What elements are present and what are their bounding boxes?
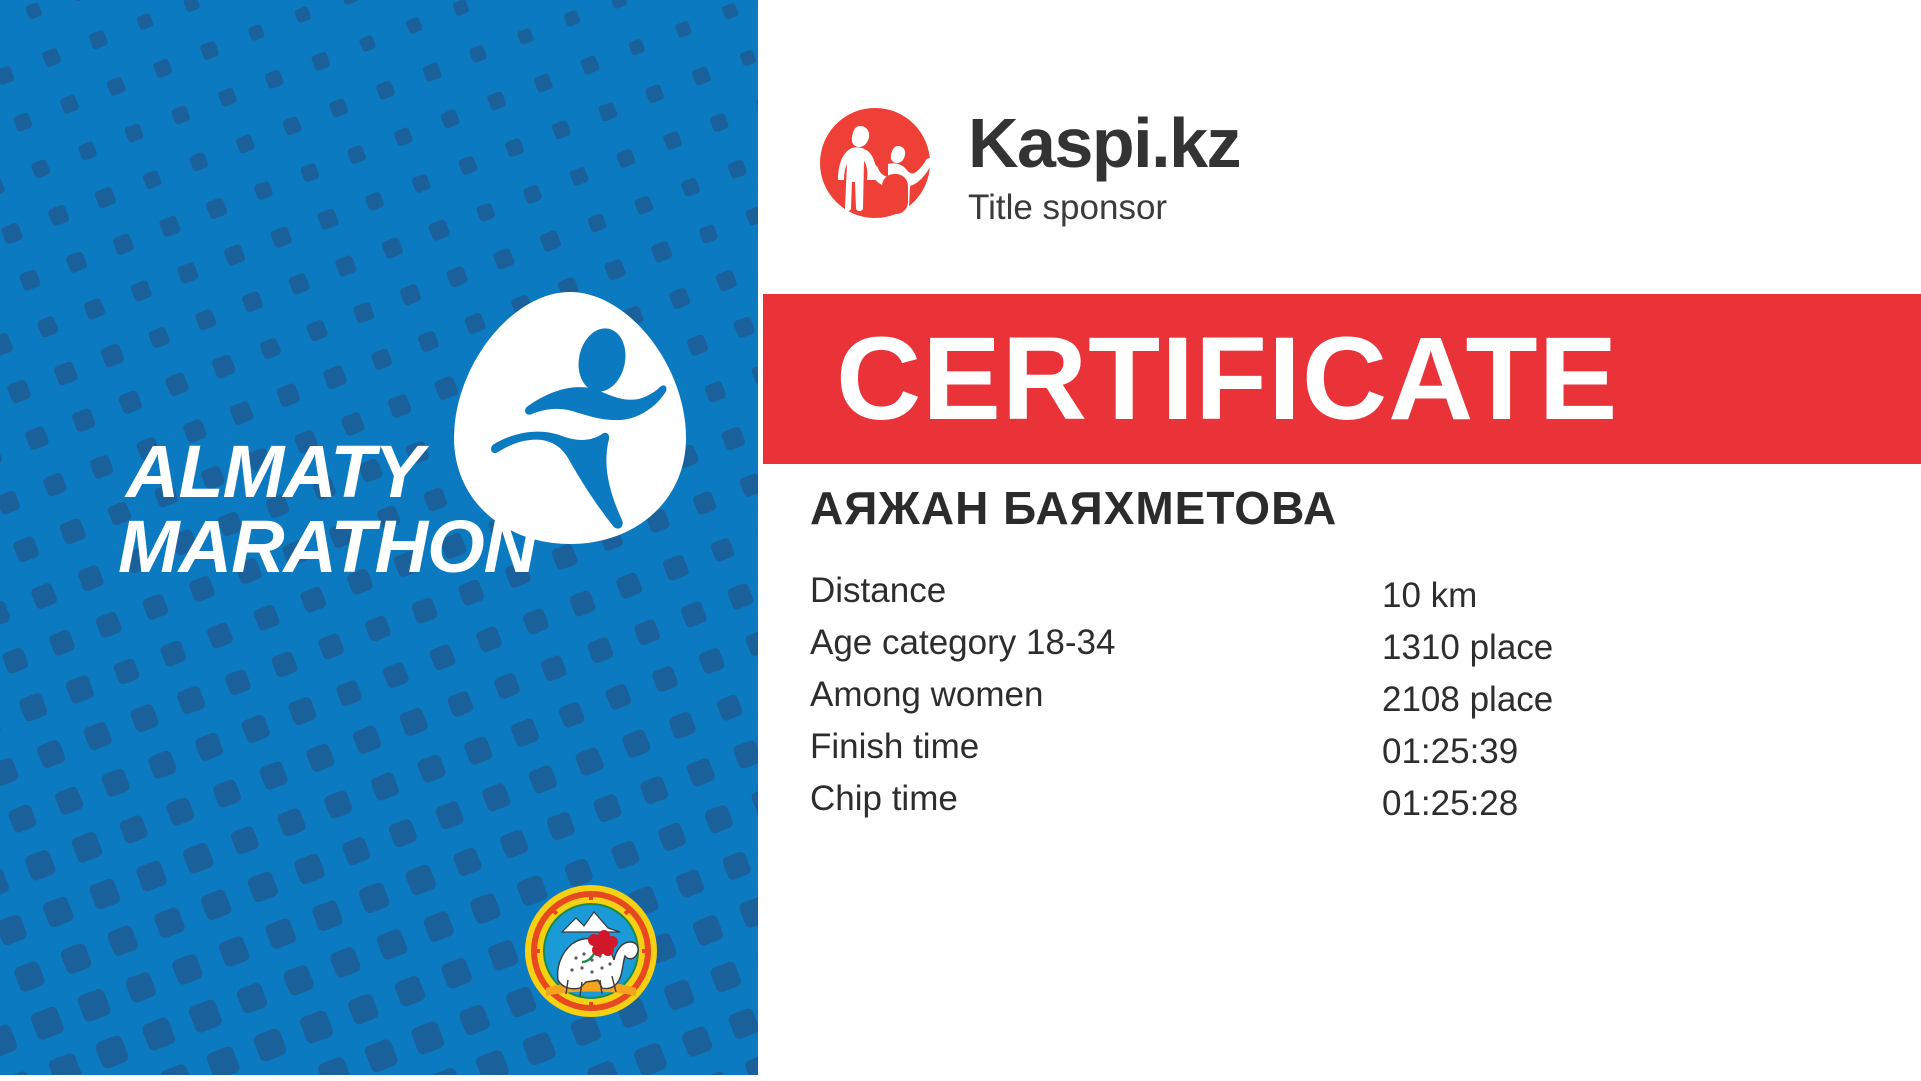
result-label: Chip time (810, 779, 958, 819)
sponsor-role-label: Title sponsor (968, 190, 1240, 225)
certificate-title: CERTIFICATE (836, 320, 1618, 438)
almaty-marathon-wordmark: ALMATY MARATHON (118, 436, 588, 583)
brand-panel: ALMATY MARATHON (0, 0, 758, 1075)
result-value: 10 km (1382, 576, 1477, 616)
result-value: 01:25:39 (1382, 732, 1518, 772)
result-label: Age category 18-34 (810, 623, 1115, 663)
result-label: Distance (810, 571, 946, 611)
result-row: Chip time01:25:28 (810, 779, 1810, 831)
almaty-coat-of-arms-icon (524, 884, 658, 1018)
participant-name: АЯЖАН БАЯХМЕТОВА (810, 481, 1337, 535)
result-value: 1310 place (1382, 628, 1553, 668)
certificate-page: ALMATY MARATHON (0, 0, 1921, 1081)
wordmark-line-almaty: ALMATY (118, 436, 588, 509)
sponsor-text-block: Kaspi.kz Title sponsor (968, 104, 1240, 225)
result-label: Among women (810, 675, 1043, 715)
result-row: Distance10 km (810, 571, 1810, 623)
title-sponsor-block: Kaspi.kz Title sponsor (816, 104, 1240, 225)
result-value: 01:25:28 (1382, 784, 1518, 824)
almaty-marathon-logo: ALMATY MARATHON (118, 288, 698, 608)
result-row: Finish time01:25:39 (810, 727, 1810, 779)
result-row: Among women2108 place (810, 675, 1810, 727)
kaspi-figures-icon (816, 104, 934, 222)
result-row: Age category 18-341310 place (810, 623, 1810, 675)
certificate-banner: CERTIFICATE (763, 294, 1921, 464)
sponsor-name: Kaspi.kz (968, 108, 1240, 178)
result-value: 2108 place (1382, 680, 1553, 720)
result-label: Finish time (810, 727, 979, 767)
results-table: Distance10 kmAge category 18-341310 plac… (810, 571, 1810, 831)
wordmark-line-marathon: MARATHON (118, 511, 588, 584)
